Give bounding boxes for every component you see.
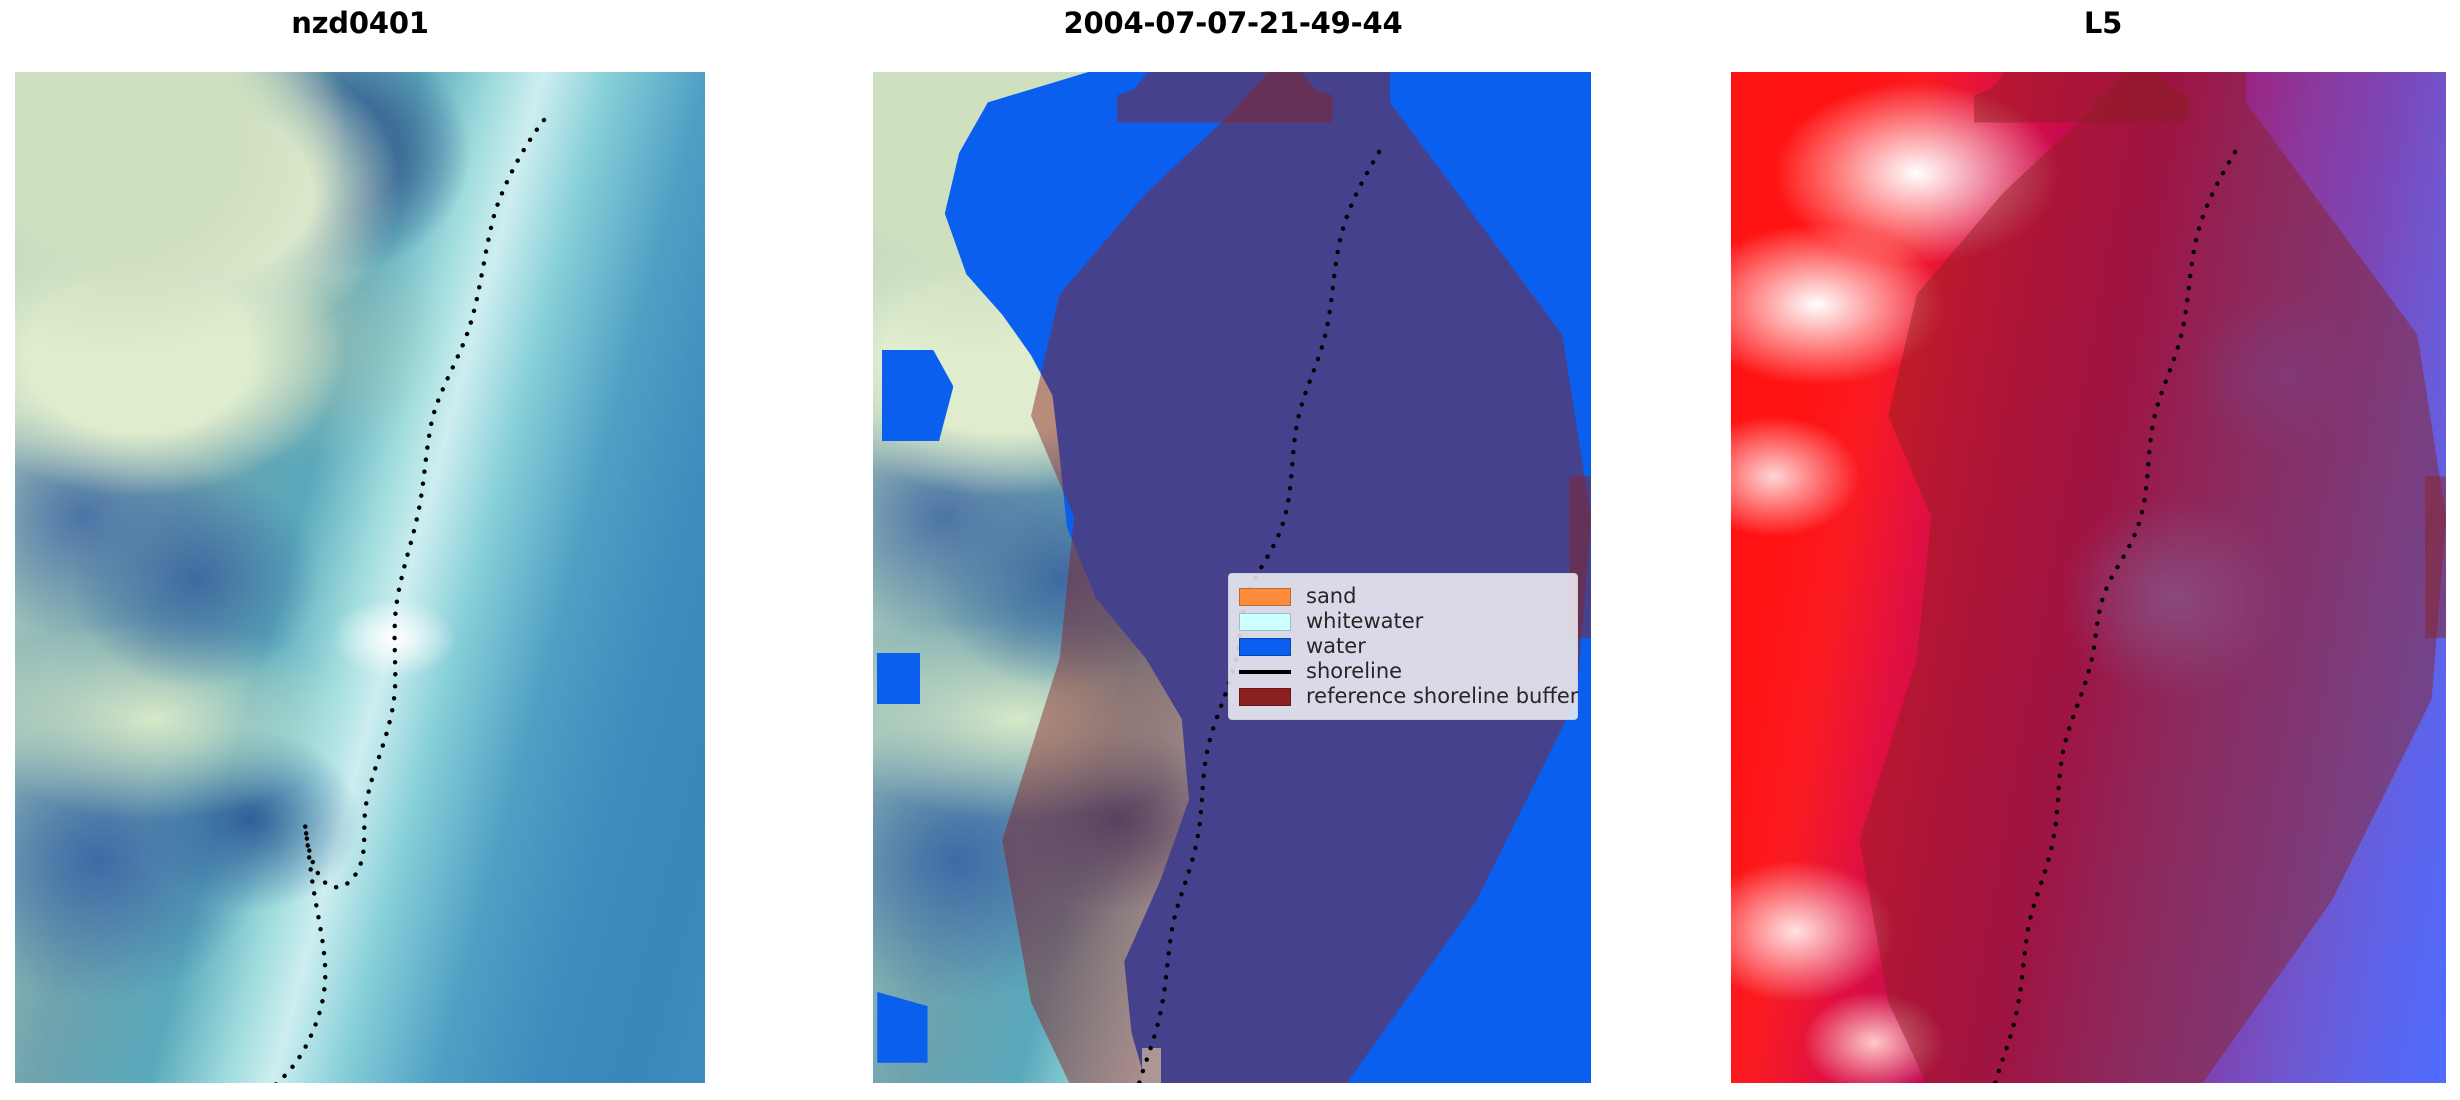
axes-panel-1 bbox=[15, 72, 705, 1083]
legend-item-shoreline: shoreline bbox=[1239, 659, 1569, 684]
water-class-patch bbox=[877, 653, 920, 704]
legend-item-water: water bbox=[1239, 634, 1569, 659]
whitewater-color-swatch bbox=[1239, 613, 1291, 631]
legend-label-water: water bbox=[1306, 634, 1366, 659]
sand-color-swatch bbox=[1239, 588, 1291, 606]
legend-label-shoreline: shoreline bbox=[1306, 659, 1402, 684]
legend-label-sand: sand bbox=[1306, 584, 1356, 609]
panel-title-1: nzd0401 bbox=[0, 6, 720, 40]
shoreline-line-swatch bbox=[1239, 670, 1291, 674]
figure-canvas: nzd0401 2004-07-07-21-49-44 bbox=[0, 0, 2460, 1100]
water-color-swatch bbox=[1239, 638, 1291, 656]
legend-label-reference-buffer: reference shoreline buffer bbox=[1306, 684, 1578, 709]
reference-shoreline-buffer-tab bbox=[2425, 476, 2446, 638]
legend-item-reference-buffer: reference shoreline buffer bbox=[1239, 684, 1569, 709]
reference-buffer-color-swatch bbox=[1239, 688, 1291, 706]
panel-title-2: 2004-07-07-21-49-44 bbox=[723, 6, 1743, 40]
legend-box: sand whitewater water shoreline referenc… bbox=[1228, 573, 1578, 720]
axes-panel-3 bbox=[1731, 72, 2446, 1083]
legend-item-sand: sand bbox=[1239, 584, 1569, 609]
reference-shoreline-buffer-cap bbox=[1117, 72, 1332, 123]
panel-index-l5: L5 bbox=[1746, 0, 2460, 1100]
rgb-satellite-layer bbox=[15, 72, 705, 1083]
panel-nzd0401: nzd0401 bbox=[0, 0, 720, 1100]
panel-title-3: L5 bbox=[1746, 6, 2460, 40]
legend-item-whitewater: whitewater bbox=[1239, 609, 1569, 634]
reference-shoreline-buffer-cap bbox=[1974, 72, 2189, 123]
panel-classified: 2004-07-07-21-49-44 sand bbox=[723, 0, 1743, 1100]
legend-label-whitewater: whitewater bbox=[1306, 609, 1423, 634]
